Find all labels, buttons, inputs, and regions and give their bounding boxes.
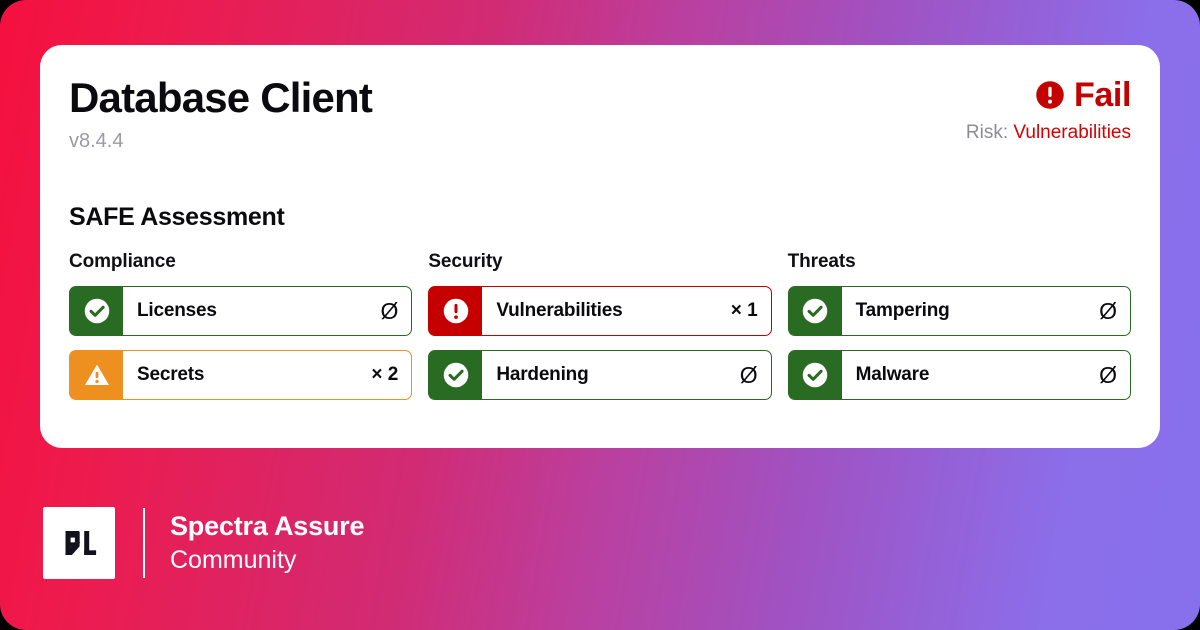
status-row-label: Secrets bbox=[137, 364, 204, 386]
status-row-body: Vulnerabilities × 1 bbox=[482, 287, 770, 335]
check-circle-icon bbox=[789, 351, 842, 399]
status-row-label: Hardening bbox=[496, 364, 588, 386]
report-header: Database Client v8.4.4 Fail bbox=[69, 73, 1131, 183]
footer-text: Spectra Assure Community bbox=[170, 510, 364, 576]
warning-triangle-icon bbox=[70, 351, 123, 399]
status-row-body: Licenses Ø bbox=[123, 287, 411, 335]
assessment-column-threats: Threats Tampering Ø bbox=[788, 250, 1131, 400]
check-circle-icon bbox=[70, 287, 123, 335]
brand-edition: Community bbox=[170, 545, 364, 576]
brand-name: Spectra Assure bbox=[170, 510, 364, 543]
check-circle-icon bbox=[429, 351, 482, 399]
rl-logo-icon bbox=[43, 507, 115, 579]
section-title: SAFE Assessment bbox=[69, 203, 285, 232]
assessment-column-compliance: Compliance Licenses Ø bbox=[69, 250, 412, 400]
column-header-compliance: Compliance bbox=[69, 250, 412, 274]
status-row-body: Malware Ø bbox=[842, 351, 1130, 399]
report-card: Database Client v8.4.4 Fail bbox=[40, 45, 1160, 448]
status-row-label: Tampering bbox=[856, 300, 950, 322]
status-row-body: Tampering Ø bbox=[842, 287, 1130, 335]
status-row-label: Licenses bbox=[137, 300, 217, 322]
status-row-value: Ø bbox=[1091, 298, 1117, 325]
title-block: Database Client v8.4.4 bbox=[69, 73, 372, 154]
column-header-threats: Threats bbox=[788, 250, 1131, 274]
status-row[interactable]: Tampering Ø bbox=[788, 286, 1131, 336]
status-row[interactable]: Licenses Ø bbox=[69, 286, 412, 336]
app-version: v8.4.4 bbox=[69, 128, 372, 154]
footer-divider bbox=[143, 508, 145, 578]
status-badge: Fail bbox=[1074, 78, 1131, 112]
page-title: Database Client bbox=[69, 73, 372, 123]
column-header-security: Security bbox=[428, 250, 771, 274]
status-row-body: Hardening Ø bbox=[482, 351, 770, 399]
risk-label: Risk: bbox=[966, 122, 1008, 143]
status-row[interactable]: Hardening Ø bbox=[428, 350, 771, 400]
assessment-column-security: Security Vulnerabilities × 1 bbox=[428, 250, 771, 400]
alert-circle-icon bbox=[429, 287, 482, 335]
status-row-value: Ø bbox=[1091, 362, 1117, 389]
status-row[interactable]: Malware Ø bbox=[788, 350, 1131, 400]
verdict-block: Fail Risk: Vulnerabilities bbox=[966, 75, 1131, 145]
assessment-columns: Compliance Licenses Ø bbox=[69, 250, 1131, 400]
status-row-value: Ø bbox=[372, 298, 398, 325]
poster-background: Database Client v8.4.4 Fail bbox=[0, 0, 1200, 630]
status-row-label: Malware bbox=[856, 364, 930, 386]
footer-branding: Spectra Assure Community bbox=[43, 505, 364, 581]
status-row-value: × 2 bbox=[363, 364, 398, 386]
status-row[interactable]: Vulnerabilities × 1 bbox=[428, 286, 771, 336]
status-row-body: Secrets × 2 bbox=[123, 351, 411, 399]
status-row-label: Vulnerabilities bbox=[496, 300, 622, 322]
verdict-line: Fail bbox=[966, 75, 1131, 115]
risk-value: Vulnerabilities bbox=[1013, 122, 1131, 143]
risk-line: Risk: Vulnerabilities bbox=[966, 121, 1131, 145]
status-row-value: × 1 bbox=[723, 300, 758, 322]
status-row[interactable]: Secrets × 2 bbox=[69, 350, 412, 400]
alert-circle-icon bbox=[1035, 80, 1065, 110]
check-circle-icon bbox=[789, 287, 842, 335]
status-row-value: Ø bbox=[732, 362, 758, 389]
